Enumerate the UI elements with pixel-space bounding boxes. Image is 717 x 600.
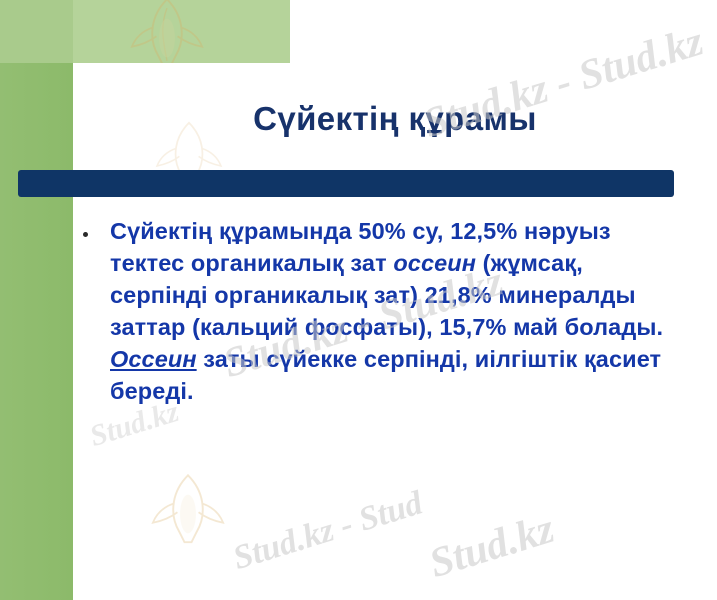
bullet-dot-icon (83, 232, 88, 237)
title-divider-bar (18, 170, 674, 197)
bullet-segment-4-italic-underline: Оссеин (110, 346, 197, 372)
body-content: Сүйектің құрамында 50% су, 12,5% нәруыз … (75, 216, 685, 408)
green-left-band (0, 0, 73, 600)
bird-logo-icon-tertiary (143, 470, 233, 558)
slide: Сүйектің құрамы Сүйектің құрамында 50% с… (0, 0, 717, 600)
list-item: Сүйектің құрамында 50% су, 12,5% нәруыз … (75, 216, 685, 408)
bullet-segment-2-italic: оссеин (393, 250, 476, 276)
page-title: Сүйектің құрамы (73, 100, 717, 138)
bullet-text: Сүйектің құрамында 50% су, 12,5% нәруыз … (110, 216, 685, 408)
